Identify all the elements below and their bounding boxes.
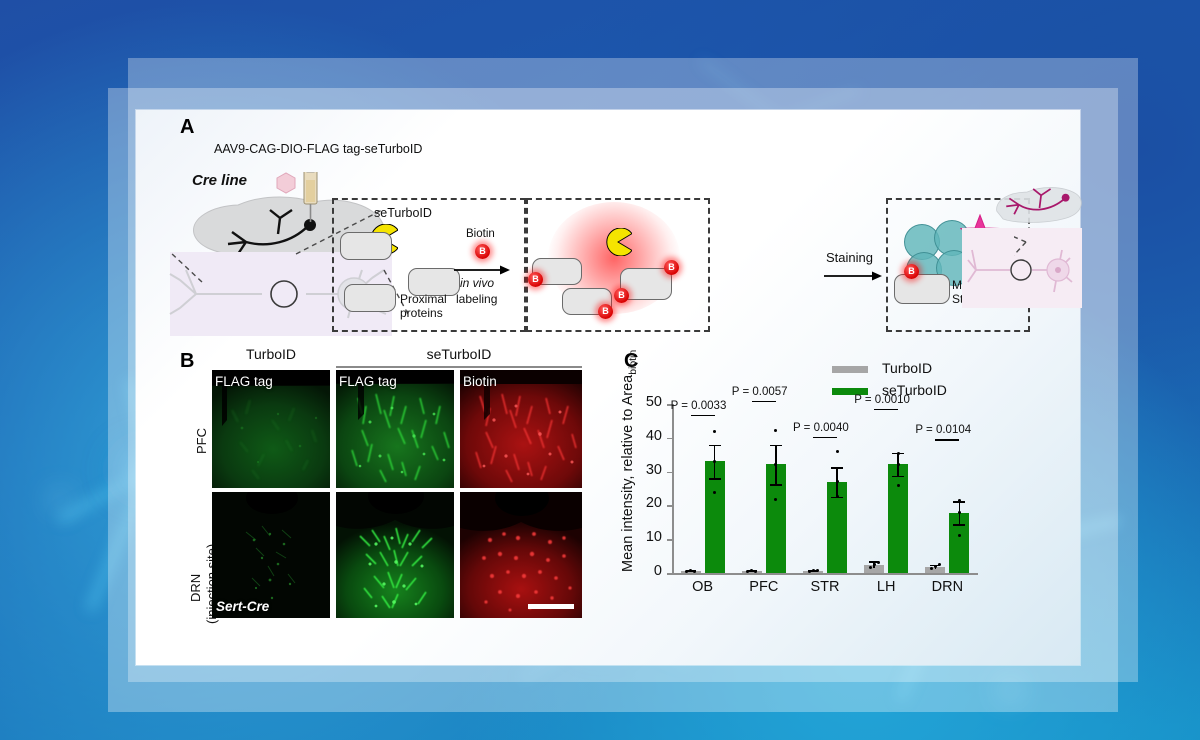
staining-label: Staining (826, 250, 873, 265)
pvalue-label: P = 0.0033 (671, 400, 727, 412)
bar-seturboid (888, 464, 908, 573)
error-cap-seturboid (709, 445, 721, 447)
data-point-turboid (693, 570, 696, 573)
pvalue-bracket (752, 401, 776, 403)
data-point-turboid (877, 561, 880, 564)
error-cap-seturboid (770, 445, 782, 447)
micrograph-pfc-turboid-flag[interactable]: FLAG tag (212, 370, 330, 488)
pvalue-label: P = 0.0057 (732, 386, 788, 398)
micrograph-content (460, 492, 582, 618)
data-point-turboid (808, 570, 811, 573)
tile-caption: FLAG tag (339, 374, 397, 389)
error-cap-seturboid (770, 484, 782, 486)
pvalue-bracket (813, 437, 837, 439)
micrograph-drn-seturboid-biotin[interactable] (460, 492, 582, 618)
row-label-pfc: PFC (194, 428, 209, 454)
data-point-seturboid (713, 430, 716, 433)
micrograph-pfc-seturboid-flag[interactable]: FLAG tag (336, 370, 454, 488)
data-point-turboid (934, 565, 937, 568)
plot-area: 01020304050OBP = 0.0033PFCP = 0.0057STRP… (606, 342, 1080, 652)
error-cap-seturboid (892, 476, 904, 478)
biotin-icon: B (598, 304, 613, 319)
micrograph-pfc-seturboid-biotin[interactable]: Biotin (460, 370, 582, 488)
data-point-seturboid (958, 534, 961, 537)
invivo-label-2: labeling (456, 292, 497, 306)
micrograph-drn-turboid-flag[interactable]: Sert-Cre (212, 492, 330, 618)
column-header-seturboid: seTurboID (336, 346, 582, 362)
data-point-seturboid (774, 429, 777, 432)
pvalue-label: P = 0.0104 (915, 424, 971, 436)
y-tick-label: 0 (636, 563, 662, 579)
panel-c: C TurboID seTurboID Mean intensity, rela… (606, 342, 1080, 652)
pvalue-label: P = 0.0040 (793, 422, 849, 434)
biotin-icon: B (528, 272, 543, 287)
y-tick (667, 539, 672, 541)
pvalue-bracket (691, 415, 715, 417)
y-tick-label: 30 (636, 462, 662, 478)
micrograph-content (336, 492, 454, 618)
tile-caption: Biotin (463, 374, 497, 389)
genotype-label: Sert-Cre (216, 599, 269, 614)
pvalue-label: P = 0.0010 (854, 394, 910, 406)
biotin-icon: B (475, 244, 490, 259)
data-point-turboid (812, 569, 815, 572)
y-tick-label: 50 (636, 394, 662, 410)
data-point-turboid (746, 570, 749, 573)
data-point-seturboid (897, 452, 900, 455)
scale-bar (528, 604, 574, 609)
construct-label: AAV9-CAG-DIO-FLAG tag-seTurboID (214, 142, 422, 156)
panel-a: A AAV9-CAG-DIO-FLAG tag-seTurboID Cre li… (136, 110, 1080, 360)
error-cap-seturboid (709, 478, 721, 480)
invivo-label-1: in vivo (460, 276, 494, 290)
y-tick (667, 505, 672, 507)
y-tick-label: 10 (636, 529, 662, 545)
column-header-turboid: TurboID (212, 346, 330, 362)
panel-a-letter: A (180, 116, 194, 139)
biotin-icon: B (904, 264, 919, 279)
panel-b: B TurboID seTurboID PFC DRN (injection s… (136, 342, 606, 652)
protein-shape (340, 232, 392, 260)
error-cap-seturboid (953, 524, 965, 526)
data-point-seturboid (836, 480, 839, 483)
arrow-right-icon-2 (824, 270, 882, 282)
y-tick (667, 472, 672, 474)
protein-shape (894, 274, 950, 304)
protein-shape (344, 284, 396, 312)
pvalue-bracket (935, 439, 959, 441)
figure-card: A AAV9-CAG-DIO-FLAG tag-seTurboID Cre li… (136, 110, 1080, 665)
enzyme-label: seTurboID (374, 206, 432, 220)
proximal-label-1: Proximal (400, 292, 447, 306)
y-tick (667, 573, 672, 575)
biotin-icon: B (664, 260, 679, 275)
data-point-turboid (869, 566, 872, 569)
zoom-lines-right (1014, 202, 1094, 322)
column-header-underline (336, 366, 582, 368)
pvalue-bracket (874, 409, 898, 411)
proximal-label-2: proteins (400, 306, 443, 320)
data-point-seturboid (836, 450, 839, 453)
panel-b-letter: B (180, 350, 194, 373)
data-point-seturboid (958, 499, 961, 502)
y-tick-label: 20 (636, 495, 662, 511)
row-label-drn: DRN (188, 574, 203, 602)
biotin-label: Biotin (466, 228, 495, 240)
data-point-turboid (873, 563, 876, 566)
y-tick (667, 438, 672, 440)
x-tick-label: DRN (907, 579, 987, 595)
tile-caption: FLAG tag (215, 374, 273, 389)
y-tick-label: 40 (636, 428, 662, 444)
data-point-seturboid (958, 511, 961, 514)
biotin-icon: B (614, 288, 629, 303)
micrograph-drn-seturboid-flag[interactable] (336, 492, 454, 618)
pacman-enzyme-icon-2 (604, 228, 632, 256)
arrow-right-icon-1 (454, 264, 510, 276)
error-cap-seturboid (831, 467, 843, 469)
